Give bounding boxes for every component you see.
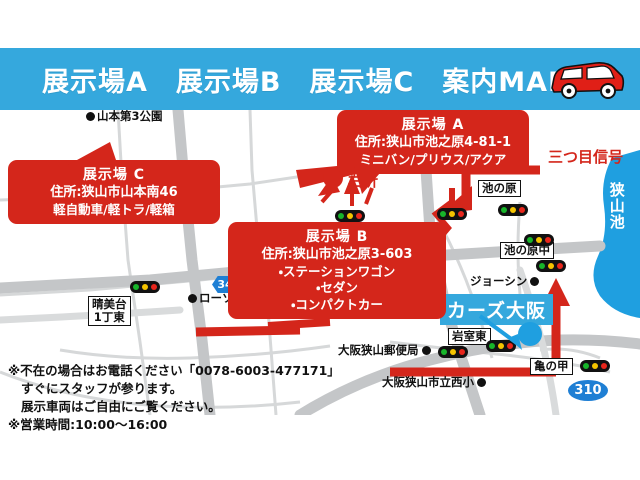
note-line-4: ※営業時間:10:00～16:00 [8,416,428,434]
showroom-b-line2: ・セダン [238,280,436,297]
showroom-a-name: 展示場 A [347,116,519,134]
landmark-dot-icon [188,294,197,303]
showroom-b-line3: ・コンパクトカー [238,297,436,314]
landmark-dot-icon [477,378,486,387]
page-title: 展示場A 展示場B 展示場C 案内MAP [42,60,569,99]
traffic-signal-icon [130,281,160,293]
callout-showroom-b: 展示場 B 住所:狭山市池之原3-603 ・ステーションワゴン ・セダン ・コン… [228,222,446,319]
note-line-3: 展示車両はご自由にご覧ください。 [8,398,428,416]
landmark-post-office: 大阪狭山郵便局 [338,344,431,357]
header-banner: 展示場A 展示場B 展示場C 案内MAP [0,48,640,110]
callout-a-tail [352,166,392,196]
third-signal-annotation: 三つ目信号 [548,146,623,167]
showroom-b-name: 展示場 B [238,228,436,246]
lake-label: 狭山池 [608,182,625,230]
landmark-joshin: ジョーシン [470,275,539,288]
showroom-c-name: 展示場 C [18,166,210,184]
landmark-dot-icon [530,277,539,286]
traffic-signal-icon [536,260,566,272]
showroom-c-cars: 軽自動車/軽トラ/軽箱 [18,202,210,219]
traffic-signal-icon [438,346,468,358]
traffic-signal-icon [437,208,467,220]
traffic-signal-icon [524,234,554,246]
map-flyer: 展示場A 展示場B 展示場C 案内MAP [0,0,640,480]
landmark-park: 山本第3公園 [86,110,163,123]
landmark-kamenoko: 亀の甲 [530,358,573,375]
landmark-harumidai: 晴美台 1丁東 [88,296,131,326]
note-line-1: ※不在の場合はお電話ください「0078-6003-477171」 [8,362,428,380]
callout-showroom-a: 展示場 A 住所:狭山市池之原4-81-1 ミニバン/プリウス/アクア [337,110,529,174]
callout-showroom-c: 展示場 C 住所:狭山市山本南46 軽自動車/軽トラ/軽箱 [8,160,220,224]
shop-location-dot [518,322,542,346]
traffic-signal-icon [335,210,365,222]
showroom-a-address: 住所:狭山市池之原4-81-1 [347,134,519,151]
footer-note: ※不在の場合はお電話ください「0078-6003-477171」 すぐにスタッフ… [8,362,428,435]
note-line-2: すぐにスタッフが参ります。 [8,380,428,398]
traffic-signal-icon [580,360,610,372]
showroom-b-address: 住所:狭山市池之原3-603 [238,246,436,263]
landmark-ikenohara: 池の原 [478,180,521,197]
showroom-b-line1: ・ステーションワゴン [238,264,436,281]
route-shield-310: 310 [568,380,608,401]
landmark-dot-icon [422,346,431,355]
red-car-icon [544,54,628,104]
traffic-signal-icon [498,204,528,216]
callout-c-tail [62,140,122,166]
showroom-c-address: 住所:狭山市山本南46 [18,184,210,201]
landmark-dot-icon [86,112,95,121]
